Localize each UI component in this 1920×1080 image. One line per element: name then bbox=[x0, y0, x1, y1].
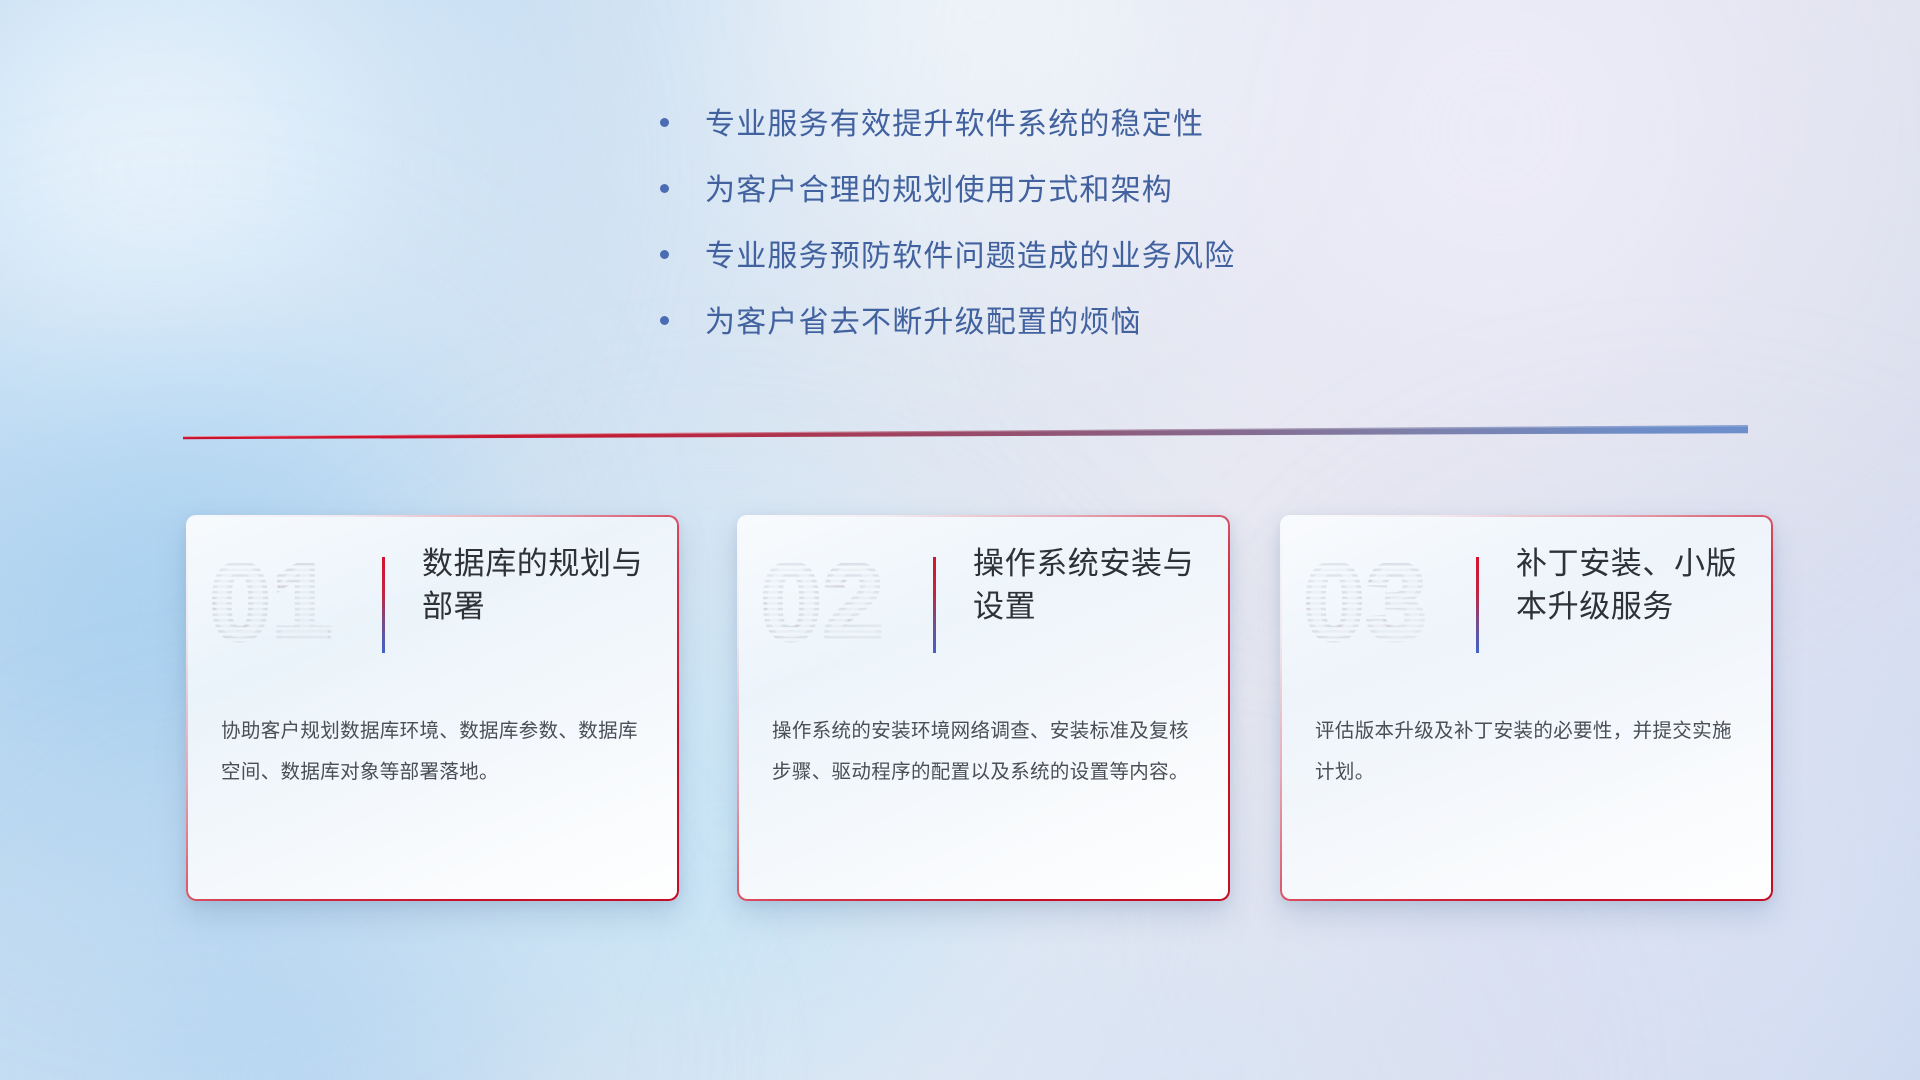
card-accent-rule bbox=[933, 557, 936, 653]
card-number-red-flecks: 01 bbox=[210, 541, 334, 662]
card-header: 03 03 03 补丁安装、小版本升级服务 bbox=[1280, 541, 1773, 671]
bullet-dot-icon bbox=[660, 250, 669, 259]
bullet-item-label: 为客户合理的规划使用方式和架构 bbox=[705, 176, 1173, 206]
bullet-item: 专业服务有效提升软件系统的稳定性 bbox=[660, 110, 1235, 140]
card-accent-rule bbox=[382, 557, 385, 653]
card-title: 数据库的规划与部署 bbox=[422, 543, 672, 629]
bullet-item-label: 专业服务有效提升软件系统的稳定性 bbox=[705, 110, 1204, 140]
card-title: 操作系统安装与设置 bbox=[973, 543, 1223, 629]
bullet-dot-icon bbox=[660, 118, 669, 127]
card-number-red-flecks: 02 bbox=[761, 541, 885, 662]
card-number-decoration: 02 02 02 bbox=[757, 535, 927, 665]
bullet-item-label: 为客户省去不断升级配置的烦恼 bbox=[705, 308, 1142, 338]
card-description: 评估版本升级及补丁安装的必要性，并提交实施计划。 bbox=[1315, 711, 1745, 792]
card-number-decoration: 01 01 01 bbox=[206, 535, 376, 665]
card-number-decoration: 03 03 03 bbox=[1300, 535, 1470, 665]
card-header: 02 02 02 操作系统安装与设置 bbox=[737, 541, 1230, 671]
bullet-item: 专业服务预防软件问题造成的业务风险 bbox=[660, 242, 1235, 272]
service-card[interactable]: 02 02 02 操作系统安装与设置 操作系统的安装环境网络调查、安装标准及复核… bbox=[737, 515, 1230, 901]
card-number-red-flecks: 03 bbox=[1304, 541, 1428, 662]
service-cards: 01 01 01 数据库的规划与部署 协助客户规划数据库环境、数据库参数、数据库… bbox=[0, 515, 1920, 915]
service-card[interactable]: 01 01 01 数据库的规划与部署 协助客户规划数据库环境、数据库参数、数据库… bbox=[186, 515, 679, 901]
service-card[interactable]: 03 03 03 补丁安装、小版本升级服务 评估版本升级及补丁安装的必要性，并提… bbox=[1280, 515, 1773, 901]
card-header: 01 01 01 数据库的规划与部署 bbox=[186, 541, 679, 671]
card-description: 操作系统的安装环境网络调查、安装标准及复核步骤、驱动程序的配置以及系统的设置等内… bbox=[772, 711, 1202, 792]
card-title: 补丁安装、小版本升级服务 bbox=[1516, 543, 1766, 629]
benefits-bullet-list: 专业服务有效提升软件系统的稳定性 为客户合理的规划使用方式和架构 专业服务预防软… bbox=[660, 110, 1235, 338]
bullet-item-label: 专业服务预防软件问题造成的业务风险 bbox=[705, 242, 1235, 272]
section-divider bbox=[183, 425, 1748, 441]
bullet-item: 为客户省去不断升级配置的烦恼 bbox=[660, 308, 1235, 338]
card-accent-rule bbox=[1476, 557, 1479, 653]
bullet-dot-icon bbox=[660, 316, 669, 325]
bullet-dot-icon bbox=[660, 184, 669, 193]
card-description: 协助客户规划数据库环境、数据库参数、数据库空间、数据库对象等部署落地。 bbox=[221, 711, 651, 792]
bullet-item: 为客户合理的规划使用方式和架构 bbox=[660, 176, 1235, 206]
